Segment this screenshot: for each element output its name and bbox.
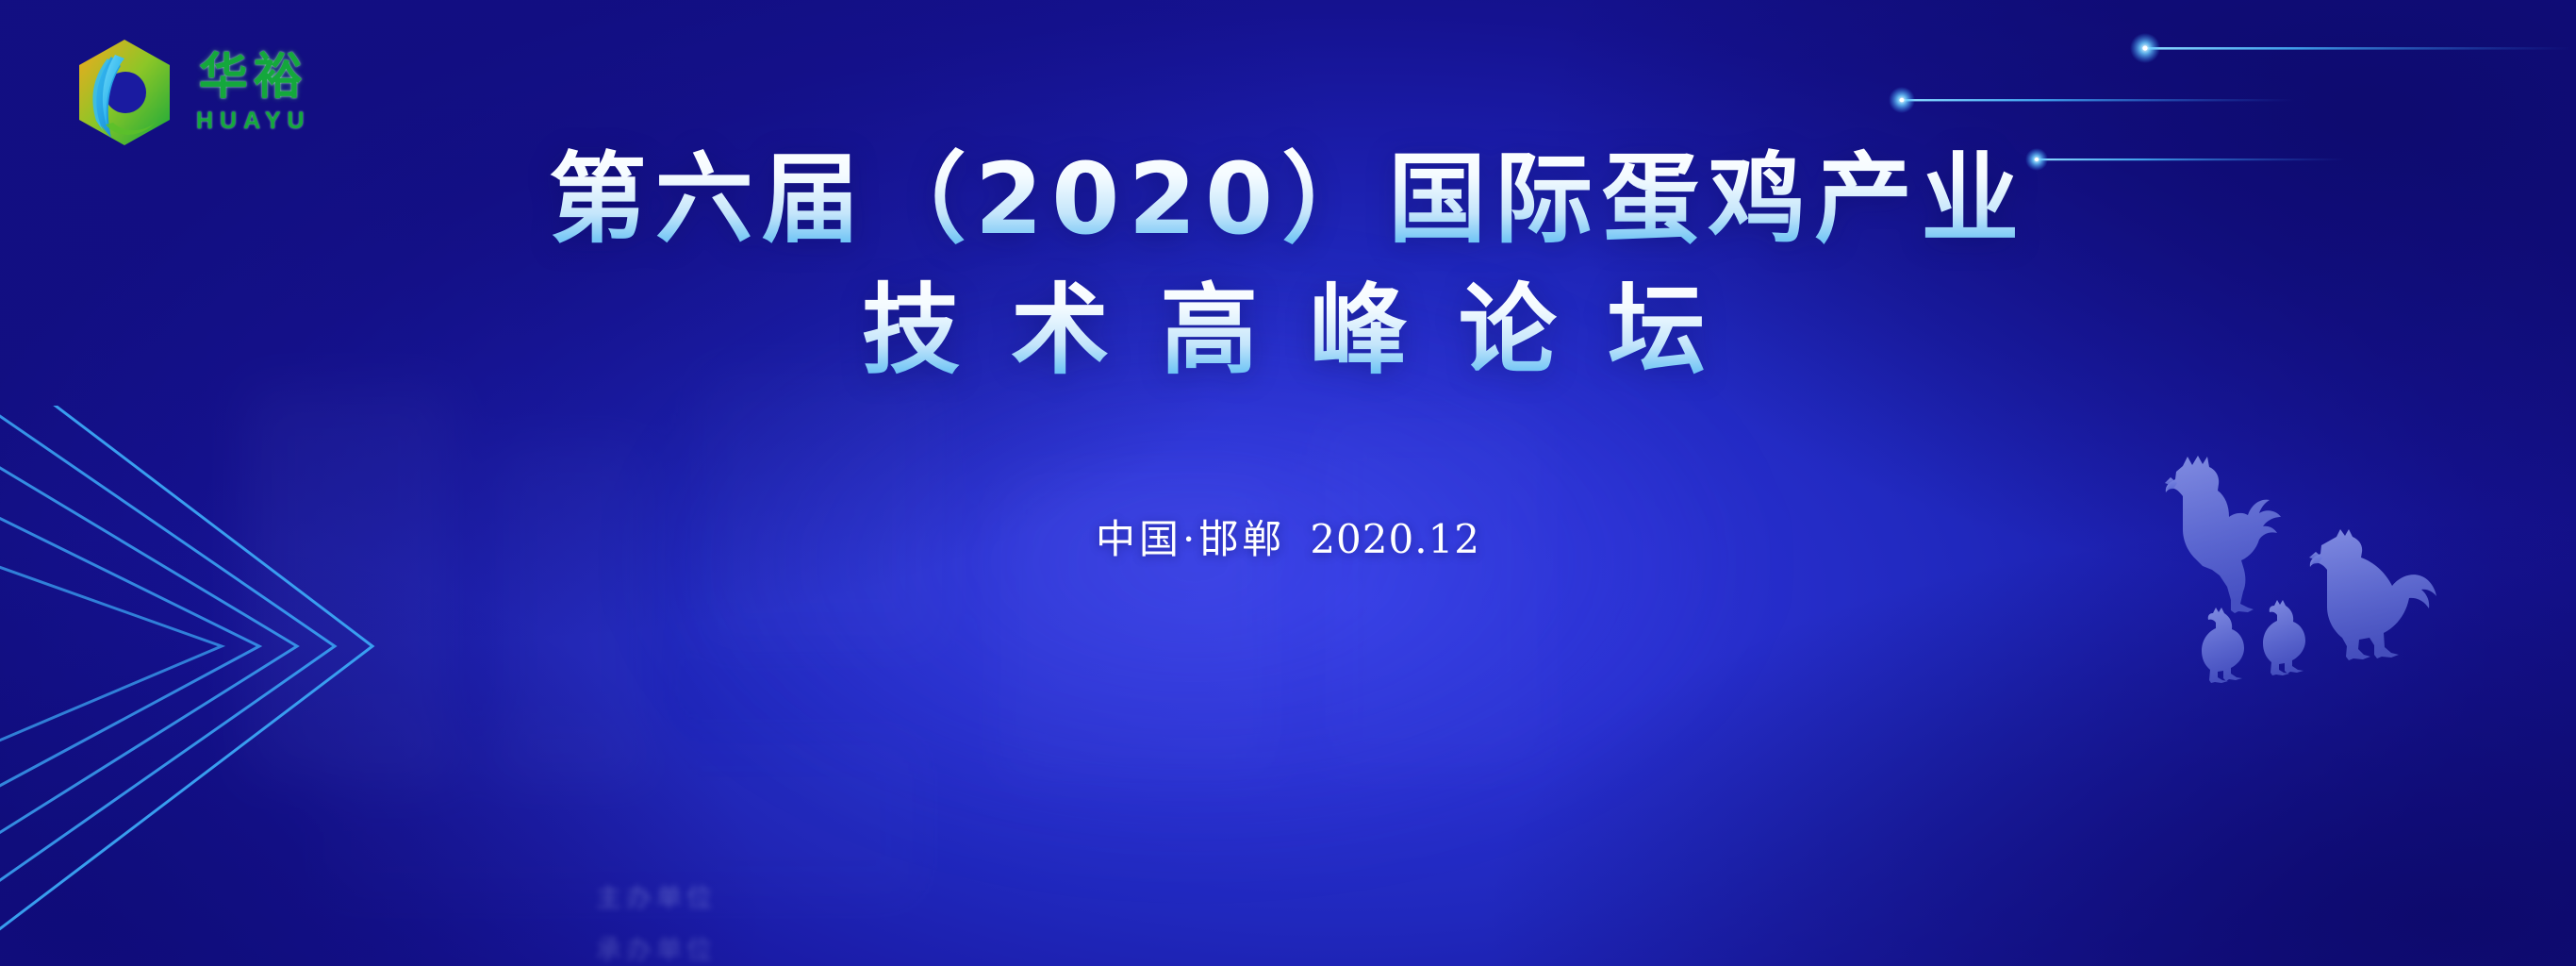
logo-chinese-name: 华裕 bbox=[199, 53, 308, 102]
footer-host-block: 主办单位 承办单位 bbox=[596, 877, 992, 966]
huayu-logo: 华裕 HUAYU bbox=[68, 34, 311, 151]
footer-host-label: 主办单位 bbox=[596, 877, 992, 914]
subtitle-location: 中国·邯郸 bbox=[1096, 516, 1285, 562]
logo-latin-name: HUAYU bbox=[196, 109, 311, 133]
poster-headline: 第六届（2020）国际蛋鸡产业 技 术 高 峰 论 坛 bbox=[0, 142, 2576, 388]
poster-canvas: 华裕 HUAYU 第六届（2020）国际蛋鸡产业 技 术 高 峰 论 坛 中国·… bbox=[0, 0, 2576, 966]
huayu-logo-text: 华裕 HUAYU bbox=[196, 53, 311, 133]
headline-line-1: 第六届（2020）国际蛋鸡产业 bbox=[0, 142, 2576, 258]
huayu-logo-mark-icon bbox=[68, 34, 181, 151]
poster-subtitle: 中国·邯郸2020.12 bbox=[0, 508, 2576, 565]
subtitle-date: 2020.12 bbox=[1310, 516, 1480, 562]
headline-line-2: 技 术 高 峰 论 坛 bbox=[0, 273, 2576, 389]
footer-cohost-label: 承办单位 bbox=[596, 929, 992, 966]
